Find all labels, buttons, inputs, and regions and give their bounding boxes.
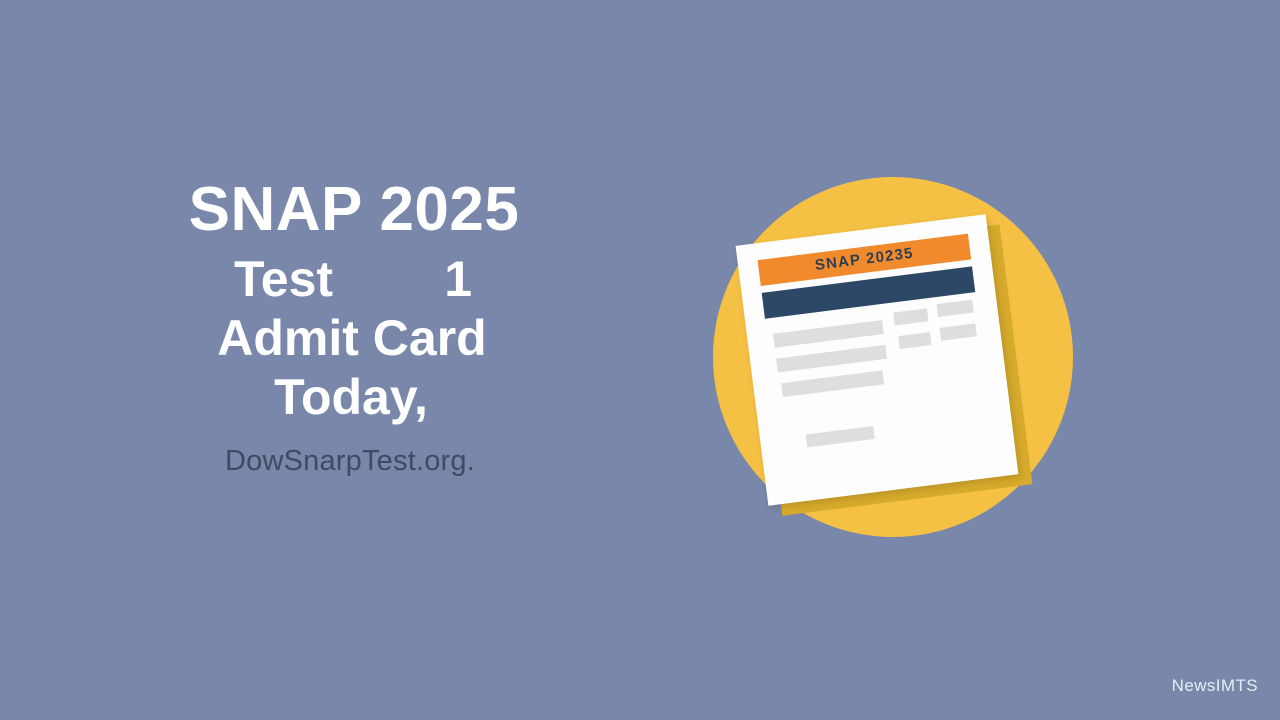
document-front-sheet: SNAP 20235 (736, 214, 1019, 506)
subtitle-line-today: Today, (0, 368, 712, 427)
placeholder-line (898, 332, 931, 349)
website-url-text: DowSnarpTest.org. (0, 445, 712, 478)
placeholder-line (893, 308, 928, 325)
document-group: SNAP 20235 (713, 177, 1073, 537)
document-illustration: SNAP 20235 (713, 177, 1073, 537)
subtitle-line-admit-card: Admit Card (0, 309, 712, 368)
placeholder-line (781, 370, 884, 397)
subtitle-line-test: Test 1 (0, 250, 712, 309)
poster-canvas: SNAP 2025 Test 1 Admit Card Today, DowSn… (0, 0, 1280, 720)
text-block: SNAP 2025 Test 1 Admit Card Today, DowSn… (0, 178, 712, 478)
placeholder-line (939, 323, 976, 340)
placeholder-line (776, 345, 887, 373)
placeholder-line (773, 320, 884, 348)
watermark-label: NewsIMTS (1172, 676, 1258, 696)
page-title: SNAP 2025 (0, 178, 712, 242)
placeholder-line (806, 426, 875, 447)
placeholder-line (936, 300, 973, 317)
